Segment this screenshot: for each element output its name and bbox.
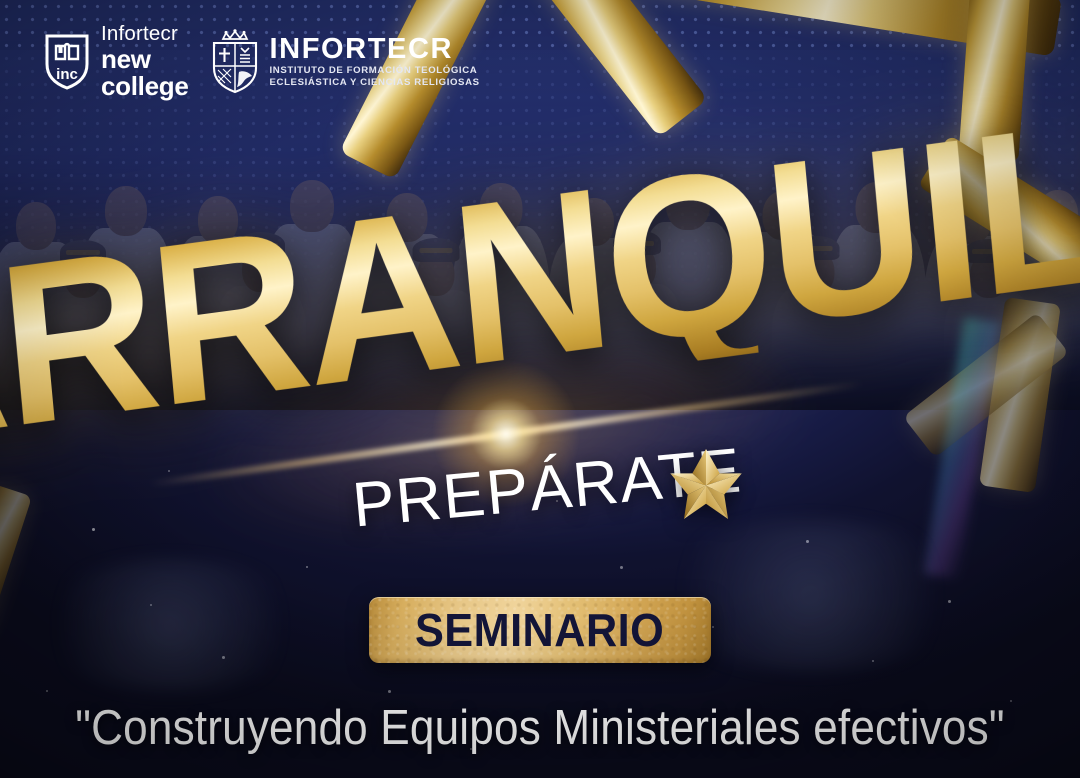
logo-bar: inc Infortecr new college bbox=[44, 24, 480, 99]
inc-wordmark: Infortecr new college bbox=[101, 24, 189, 99]
inc-wordmark-line1: Infortecr bbox=[101, 24, 189, 45]
event-tagline: "Construyendo Equipos Ministeriales efec… bbox=[75, 700, 1004, 756]
shield-book-icon: inc bbox=[44, 32, 90, 90]
poster-canvas: inc Infortecr new college bbox=[0, 0, 1080, 778]
inc-wordmark-line3: college bbox=[101, 73, 189, 99]
infortecr-subtitle-line2: ECLESIÁSTICA Y CIENCIAS RELIGIOSAS bbox=[270, 78, 480, 88]
svg-text:inc: inc bbox=[56, 66, 78, 83]
logo-inc: inc Infortecr new college bbox=[44, 24, 189, 99]
crest-crown-shield-icon bbox=[209, 28, 261, 94]
infortecr-title: INFORTECR bbox=[270, 35, 480, 65]
seminario-badge[interactable]: SEMINARIO bbox=[369, 597, 711, 663]
inc-wordmark-line2: new bbox=[101, 46, 189, 72]
headline-container: BARRANQUILLA bbox=[0, 176, 1080, 466]
infortecr-wordmark: INFORTECR INSTITUTO DE FORMACIÓN TEOLÓGI… bbox=[270, 35, 480, 87]
gold-star-icon bbox=[668, 446, 744, 522]
logo-infortecr: INFORTECR INSTITUTO DE FORMACIÓN TEOLÓGI… bbox=[209, 28, 480, 94]
infortecr-subtitle-line1: INSTITUTO DE FORMACIÓN TEOLÓGICA bbox=[270, 66, 480, 76]
seminario-badge-label: SEMINARIO bbox=[415, 603, 664, 657]
